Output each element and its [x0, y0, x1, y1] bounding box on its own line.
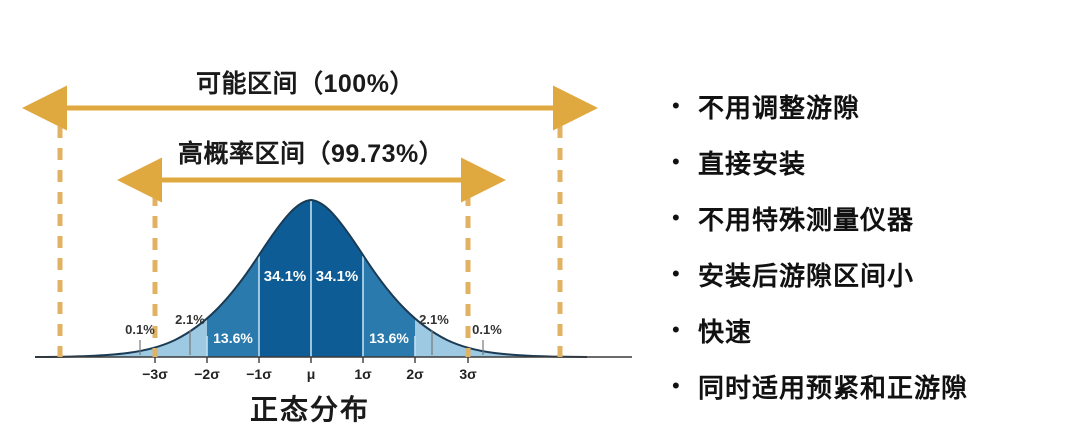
- band-label-right-13-6-percent: 13.6%: [369, 330, 409, 346]
- distribution-title: 正态分布: [250, 388, 370, 428]
- axis-ticks: [155, 357, 468, 363]
- bullet-dot-icon: •: [672, 207, 698, 229]
- axis-tick-label-neg1sigma: −1σ: [246, 366, 272, 382]
- normal-distribution-diagram: 可能区间（100%） 高概率区间（99.73%） 正态分布 −3σ −2σ −1…: [0, 0, 660, 434]
- list-item: • 不用特殊测量仪器: [672, 190, 1072, 246]
- axis-tick-label-neg2sigma: −2σ: [194, 366, 220, 382]
- list-item-label: 不用调整游隙: [698, 88, 860, 125]
- list-item: • 直接安装: [672, 134, 1072, 190]
- list-item-label: 快速: [698, 312, 752, 349]
- band-label-left-34-1-percent: 34.1%: [264, 268, 307, 285]
- list-item-label: 直接安装: [698, 144, 806, 181]
- list-item-label: 同时适用预紧和正游隙: [698, 368, 968, 405]
- axis-tick-label-pos2sigma: 2σ: [406, 366, 423, 382]
- bullet-dot-icon: •: [672, 319, 698, 341]
- list-item: • 安装后游隙区间小: [672, 246, 1072, 302]
- span-label-outer: 可能区间（100%）: [196, 64, 415, 100]
- span-label-inner: 高概率区间（99.73%）: [178, 134, 444, 170]
- band-label-right-2-1-percent: 2.1%: [419, 312, 449, 327]
- axis-tick-label-pos1sigma: 1σ: [354, 366, 371, 382]
- benefits-bullet-list: • 不用调整游隙 • 直接安装 • 不用特殊测量仪器 • 安装后游隙区间小 • …: [672, 78, 1072, 414]
- slide-canvas: 可能区间（100%） 高概率区间（99.73%） 正态分布 −3σ −2σ −1…: [0, 0, 1080, 434]
- band-label-left-13-6-percent: 13.6%: [213, 330, 253, 346]
- bullet-dot-icon: •: [672, 263, 698, 285]
- axis-tick-label-mu: μ: [307, 366, 316, 382]
- band-label-right-0-1-percent: 0.1%: [472, 322, 502, 337]
- list-item: • 快速: [672, 302, 1072, 358]
- bullet-dot-icon: •: [672, 95, 698, 117]
- axis-tick-label-pos3sigma: 3σ: [459, 366, 476, 382]
- band-label-left-2-1-percent: 2.1%: [175, 312, 205, 327]
- list-item-label: 安装后游隙区间小: [698, 256, 914, 293]
- list-item: • 不用调整游隙: [672, 78, 1072, 134]
- bullet-dot-icon: •: [672, 375, 698, 397]
- axis-tick-label-neg3sigma: −3σ: [142, 366, 168, 382]
- list-item: • 同时适用预紧和正游隙: [672, 358, 1072, 414]
- band-label-right-34-1-percent: 34.1%: [316, 268, 359, 285]
- bullet-dot-icon: •: [672, 151, 698, 173]
- list-item-label: 不用特殊测量仪器: [698, 200, 914, 237]
- band-label-left-0-1-percent: 0.1%: [125, 322, 155, 337]
